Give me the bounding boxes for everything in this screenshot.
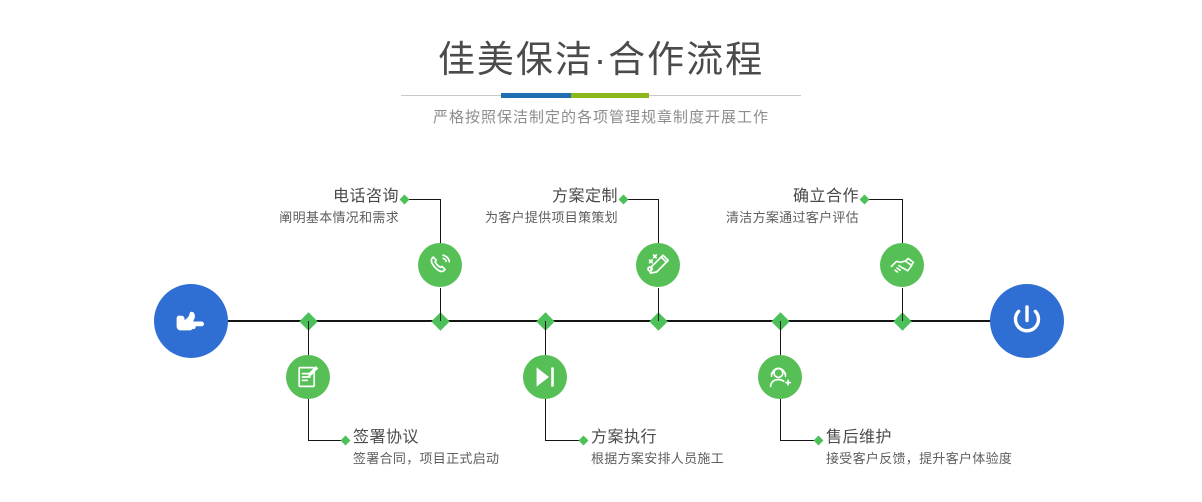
step-node-3[interactable] [636,243,680,287]
step-title: 方案执行 [591,427,724,449]
step-node-1[interactable] [418,243,462,287]
timeline-axis [226,320,992,322]
step-description: 清洁方案通过客户评估 [726,208,859,228]
node-stem-line [780,321,781,355]
callout-vertical-line [440,199,441,243]
label-bullet-diamond [578,436,588,446]
callout-vertical-line [902,199,903,243]
divider-accent-blue [501,93,571,98]
step-title: 确立合作 [726,186,859,208]
callout-vertical-line [545,399,546,440]
node-stem-line [658,288,659,321]
thumbs-up-point-icon [171,301,211,341]
step-description: 为客户提供项目策策划 [485,208,618,228]
step-label-4: 方案执行根据方案安排人员施工 [591,427,724,469]
step-node-6[interactable] [758,355,802,399]
step-node-4[interactable] [523,355,567,399]
label-bullet-diamond [859,195,869,205]
callout-vertical-line [308,399,309,440]
step-node-2[interactable] [286,355,330,399]
timeline-start-badge [154,284,228,358]
step-description: 根据方案安排人员施工 [591,449,724,469]
title-divider [401,93,801,99]
label-bullet-diamond [340,436,350,446]
step-title: 售后维护 [826,427,1012,449]
callout-vertical-line [780,399,781,440]
step-label-3: 方案定制为客户提供项目策策划 [485,186,618,228]
step-title: 签署协议 [353,427,499,449]
handshake-icon [889,252,916,279]
headset-support-add-icon [767,364,794,391]
label-bullet-diamond [399,195,409,205]
pencil-design-icon [645,252,672,279]
step-label-1: 电话咨询阐明基本情况和需求 [279,186,399,228]
timeline-end-badge [990,284,1064,358]
step-label-2: 签署协议签署合同，项目正式启动 [353,427,499,469]
step-title: 方案定制 [485,186,618,208]
page-subtitle: 严格按照保洁制定的各项管理规章制度开展工作 [0,105,1202,131]
phone-call-icon [427,252,453,278]
step-description: 阐明基本情况和需求 [279,208,399,228]
page-title: 佳美保洁·合作流程 [0,36,1202,84]
label-bullet-diamond [813,436,823,446]
node-stem-line [545,321,546,355]
node-stem-line [440,288,441,321]
step-description: 签署合同，项目正式启动 [353,449,499,469]
step-label-6: 售后维护接受客户反馈，提升客户体验度 [826,427,1012,469]
power-icon [1006,300,1048,342]
divider-accent-green [571,93,649,98]
step-title: 电话咨询 [279,186,399,208]
node-stem-line [308,321,309,355]
callout-vertical-line [658,199,659,243]
cooperation-flow-infographic: 佳美保洁·合作流程 严格按照保洁制定的各项管理规章制度开展工作 电话咨询阐明基本… [0,0,1202,502]
play-execute-icon [532,364,558,390]
node-stem-line [902,288,903,321]
document-edit-icon [295,364,321,390]
step-label-5: 确立合作清洁方案通过客户评估 [726,186,859,228]
step-node-5[interactable] [880,243,924,287]
label-bullet-diamond [618,195,628,205]
step-description: 接受客户反馈，提升客户体验度 [826,449,1012,469]
